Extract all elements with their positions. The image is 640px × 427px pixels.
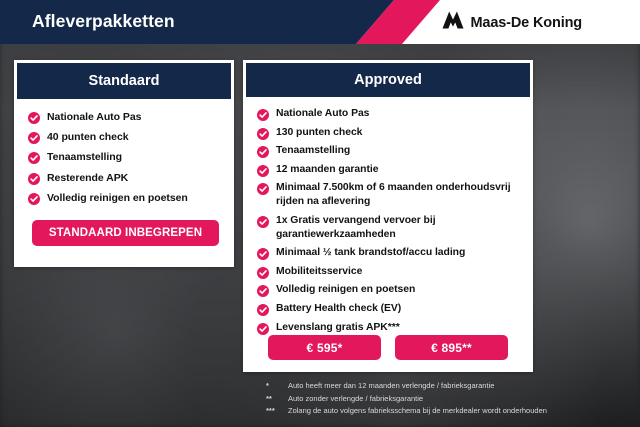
feature-label: Volledig reinigen en poetsen [276,283,415,297]
footnote-marker: ** [266,393,280,405]
package-title-approved: Approved [246,63,530,97]
feature-label: Minimaal 7.500km of 6 maanden onderhouds… [276,181,533,209]
afleverpakketten-page: Afleverpakketten Maas-De Koning Standaar… [0,0,640,427]
feature-label: Nationale Auto Pas [276,107,369,121]
check-circle-icon [257,164,269,176]
page-header: Afleverpakketten Maas-De Koning [0,0,640,44]
list-item: Minimaal 7.500km of 6 maanden onderhouds… [257,181,533,209]
list-item: Nationale Auto Pas [257,107,533,121]
check-circle-icon [257,215,269,227]
check-circle-icon [257,303,269,315]
footnote-marker: *** [266,405,280,417]
feature-label: Mobiliteitsservice [276,265,362,279]
maas-de-koning-m-icon [442,11,464,34]
footnote-row: * Auto heeft meer dan 12 maanden verleng… [266,380,547,392]
check-circle-icon [257,247,269,259]
footnotes: * Auto heeft meer dan 12 maanden verleng… [266,380,547,418]
list-item: 130 punten check [257,126,533,140]
page-title: Afleverpakketten [32,11,175,32]
feature-list-approved: Nationale Auto Pas 130 punten check Tena… [257,97,533,335]
check-circle-icon [257,108,269,120]
feature-label: 130 punten check [276,126,362,140]
check-circle-icon [28,151,40,163]
list-item: Volledig reinigen en poetsen [28,191,234,205]
list-item: 40 punten check [28,130,234,144]
list-item: Mobiliteitsservice [257,265,533,279]
feature-label: 12 maanden garantie [276,163,378,177]
check-circle-icon [28,131,40,143]
price-button-row: € 595* € 895** [243,335,533,360]
check-circle-icon [257,284,269,296]
feature-list-standaard: Nationale Auto Pas 40 punten check Tenaa… [28,99,234,205]
feature-label: Battery Health check (EV) [276,302,401,316]
list-item: Volledig reinigen en poetsen [257,283,533,297]
footnote-text: Auto zonder verlengde / fabrieksgarantie [288,393,423,405]
check-circle-icon [257,127,269,139]
package-card-approved: Approved Nationale Auto Pas 130 punten c… [243,60,533,372]
list-item: Resterende APK [28,171,234,185]
footnote-text: Zolang de auto volgens fabrieksschema bi… [288,405,547,417]
check-circle-icon [257,266,269,278]
price-button-595[interactable]: € 595* [268,335,381,360]
feature-label: Minimaal ½ tank brandstof/accu lading [276,246,465,260]
feature-label: Tenaamstelling [47,150,122,164]
package-card-standaard: Standaard Nationale Auto Pas 40 punten c… [14,60,234,267]
list-item: Tenaamstelling [257,144,533,158]
list-item: 1x Gratis vervangend vervoer bij garanti… [257,214,533,242]
feature-label: Volledig reinigen en poetsen [47,191,188,205]
footnote-row: ** Auto zonder verlengde / fabrieksgaran… [266,393,547,405]
check-circle-icon [257,322,269,334]
footnote-row: *** Zolang de auto volgens fabrieksschem… [266,405,547,417]
list-item: Levenslang gratis APK*** [257,321,533,335]
brand-logo: Maas-De Koning [442,11,583,34]
check-circle-icon [257,145,269,157]
package-title-standaard: Standaard [17,63,231,99]
check-circle-icon [28,172,40,184]
check-circle-icon [257,182,269,194]
feature-label: Nationale Auto Pas [47,110,141,124]
feature-label: Tenaamstelling [276,144,350,158]
feature-label: 1x Gratis vervangend vervoer bij garanti… [276,214,533,242]
footnote-text: Auto heeft meer dan 12 maanden verlengde… [288,380,494,392]
standaard-inbegrepen-button[interactable]: STANDAARD INBEGREPEN [32,220,219,246]
feature-label: 40 punten check [47,130,129,144]
feature-label: Levenslang gratis APK*** [276,321,400,335]
check-circle-icon [28,192,40,204]
list-item: Nationale Auto Pas [28,110,234,124]
list-item: Battery Health check (EV) [257,302,533,316]
price-button-895[interactable]: € 895** [395,335,508,360]
list-item: Minimaal ½ tank brandstof/accu lading [257,246,533,260]
check-circle-icon [28,111,40,123]
feature-label: Resterende APK [47,171,128,185]
list-item: 12 maanden garantie [257,163,533,177]
list-item: Tenaamstelling [28,150,234,164]
footnote-marker: * [266,380,280,392]
brand-name: Maas-De Koning [471,15,583,31]
